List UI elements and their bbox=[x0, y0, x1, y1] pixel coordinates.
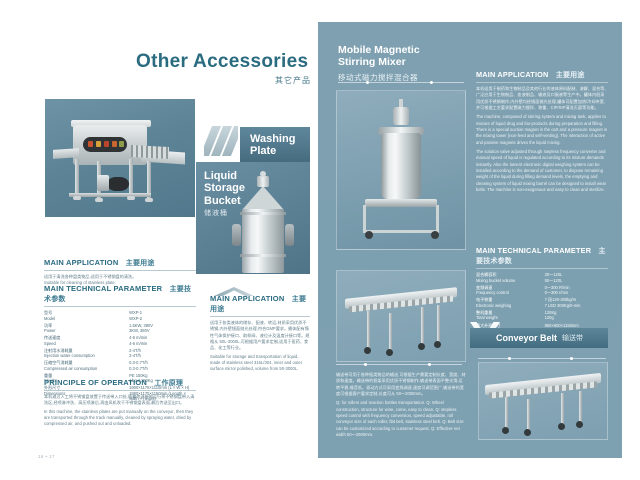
washing-plate-label: Washing Plate bbox=[240, 127, 310, 165]
mixer-main-application-body-en2: The solution valve adjusted through step… bbox=[476, 149, 608, 193]
page-title-en: Other Accessories bbox=[136, 52, 311, 72]
conveyor-photo-2 bbox=[478, 362, 608, 440]
mixer-main-application-body-en: The machine, composed of stirring system… bbox=[476, 114, 608, 146]
liquid-bucket-label-line3: Bucket bbox=[204, 195, 268, 207]
param-value: WXP-1 WXP-2 bbox=[129, 310, 196, 321]
dot-marker bbox=[428, 363, 431, 366]
param-key-en: Frequency control bbox=[476, 290, 509, 295]
mixer-main-application-heading-en: MAIN APPLICATION bbox=[476, 70, 549, 79]
param-value: 1.5KW, 380V 3KW, 380V bbox=[129, 323, 196, 334]
table-row: 变频调速 Frequency control 0～300 R/min 0～300… bbox=[476, 285, 608, 296]
left-technical-heading-en: MAIN TECHNICAL PARAMETER bbox=[44, 284, 162, 293]
param-key-en: Power bbox=[44, 328, 56, 333]
param-key-en: Speed bbox=[44, 341, 56, 346]
conveyor-photo-1 bbox=[336, 270, 466, 362]
washing-plate-photo bbox=[44, 98, 196, 218]
table-row: 压缩空气消耗量 Compressed air consumption 0.3-0… bbox=[44, 360, 196, 371]
divider bbox=[44, 390, 196, 391]
param-key-en: Electronic weighing bbox=[476, 303, 511, 308]
table-row: 传送速度 Speed 4-6 m/min 4-6 m/min bbox=[44, 335, 196, 346]
table-row: 电子称重 Electronic weighing 7 段120-300kg/m … bbox=[476, 297, 608, 308]
table-row: 型号 Model WXP-1 WXP-2 bbox=[44, 310, 196, 321]
left-main-application-heading: MAIN APPLICATION 主要用途 bbox=[44, 258, 196, 268]
dot-marker bbox=[366, 81, 369, 84]
conveyor-belt-banner: Conveyor Belt 输送带 bbox=[470, 328, 608, 348]
page-title: Other Accessories 其它产品 bbox=[136, 52, 311, 86]
chevron-up-icon bbox=[214, 274, 254, 296]
param-key-en: Model bbox=[44, 316, 55, 321]
table-row: 混合桶容积 Mixing bucket volume 30～120L 50～12… bbox=[476, 272, 608, 283]
param-value: 120Kg 120g bbox=[545, 310, 608, 321]
mixer-title: Mobile Magnetic Stirring Mixer 移动式磁力搅拌混合… bbox=[338, 44, 468, 83]
param-value: 30～120L 50～120L bbox=[545, 272, 608, 283]
divider bbox=[476, 82, 608, 83]
divider bbox=[476, 268, 608, 269]
divider bbox=[478, 358, 606, 359]
catalog-spread: Other Accessories 其它产品 bbox=[0, 0, 640, 480]
conveyor-body-cn: 输送带可用于各种瓶类物品的输送,可根据生产需要定制长度、宽度、材质和速度。输送带… bbox=[336, 372, 466, 397]
mixer-main-application-heading-cn: 主要用途 bbox=[556, 72, 585, 79]
liquid-bucket-label-line2: Storage bbox=[204, 182, 268, 194]
param-value: 0～300 R/min 0～300 r/min bbox=[545, 285, 608, 296]
param-value: 0.3-0.7T/h 0.3-0.7T/h bbox=[129, 360, 196, 371]
liquid-main-application-body-cn: 适用于各类液体的储存、配液、转运,材质采用优质不锈钢,内外壁镜面抛光处理,符合G… bbox=[210, 320, 310, 352]
conveyor-belt-label-cn: 输送带 bbox=[562, 333, 583, 343]
liquid-main-application-section: MAIN APPLICATION 主要用途 适用于各类液体的储存、配液、转运,材… bbox=[210, 294, 310, 373]
left-main-application-heading-cn: 主要用途 bbox=[126, 260, 155, 267]
divider bbox=[44, 306, 196, 307]
param-key-en: Injection water consumption bbox=[44, 353, 95, 358]
divider bbox=[210, 316, 310, 317]
principle-heading: PRINCIPLE OF OPERATION 工作原理 bbox=[44, 378, 196, 388]
table-row: 整机重量 Total weight 120Kg 120g bbox=[476, 310, 608, 321]
param-key-cn: 型号 bbox=[44, 310, 129, 316]
principle-body-en: In this machine, the stainless plates ar… bbox=[44, 409, 196, 428]
left-technical-heading: MAIN TECHNICAL PARAMETER 主要技术参数 bbox=[44, 284, 196, 304]
mixer-title-line1: Mobile Magnetic bbox=[338, 44, 468, 56]
dot-marker bbox=[364, 363, 367, 366]
conveyor-belt-label-en: Conveyor Belt bbox=[470, 333, 557, 343]
principle-heading-cn: 工作原理 bbox=[154, 380, 183, 387]
mixer-technical-heading-en: MAIN TECHNICAL PARAMETER bbox=[476, 246, 591, 255]
liquid-bucket-label-cn: 储液桶 bbox=[204, 208, 228, 218]
param-key-cn: 功率 bbox=[44, 323, 129, 329]
mixer-main-application-body-cn: 本机适用于制药和生物制品及其他行业的液体原料配制、溶解、混合等,广泛应用于生物制… bbox=[476, 86, 608, 111]
param-key-en: Compressed air consumption bbox=[44, 366, 97, 371]
mixer-technical-heading: MAIN TECHNICAL PARAMETER 主要技术参数 bbox=[476, 246, 608, 266]
table-row: 注射用水消耗量 Injection water consumption 2-4T… bbox=[44, 348, 196, 359]
divider bbox=[336, 364, 462, 365]
page-title-cn: 其它产品 bbox=[136, 75, 311, 86]
mixer-photo bbox=[336, 90, 466, 250]
washing-plate-label-line1: Washing bbox=[250, 133, 302, 145]
param-key-en: Total weight bbox=[476, 315, 498, 320]
conveyor-body-en: Q: for rollers and reaction bottles tran… bbox=[336, 400, 466, 438]
chevron-left-icon bbox=[204, 126, 238, 156]
param-key-en: Mixing bucket volume bbox=[476, 278, 515, 283]
page-number: 16 • 17 bbox=[38, 454, 55, 459]
left-main-application-section: MAIN APPLICATION 主要用途 适用于清洗各种盘类物品,适用于不锈钢… bbox=[44, 258, 196, 287]
mixer-main-application-heading: MAIN APPLICATION 主要用途 bbox=[476, 70, 608, 80]
left-page: Other Accessories 其它产品 bbox=[18, 22, 318, 458]
dot-marker bbox=[570, 357, 573, 360]
table-row: 功率 Power 1.5KW, 380V 3KW, 380V bbox=[44, 323, 196, 334]
liquid-main-application-heading: MAIN APPLICATION 主要用途 bbox=[210, 294, 310, 314]
param-value: 2-4T/h 2-4T/h bbox=[129, 348, 196, 359]
liquid-bucket-label: Liquid Storage Bucket bbox=[204, 170, 268, 207]
liquid-main-application-body-en: Suitable for storage and transportation … bbox=[210, 354, 310, 373]
mixer-main-application-section: MAIN APPLICATION 主要用途 本机适用于制药和生物制品及其他行业的… bbox=[476, 70, 608, 194]
washing-plate-label-line2: Plate bbox=[250, 145, 302, 157]
principle-heading-en: PRINCIPLE OF OPERATION bbox=[44, 378, 147, 387]
left-main-application-heading-en: MAIN APPLICATION bbox=[44, 258, 118, 267]
dot-marker bbox=[430, 81, 433, 84]
principle-body-cn: 本机通过人工将不锈钢盘放置于传送带入口处,随着传送带的运行将不锈钢盘带入清洗区,… bbox=[44, 394, 196, 407]
conveyor-description-section: 输送带可用于各种瓶类物品的输送,可根据生产需要定制长度、宽度、材质和速度。输送带… bbox=[336, 372, 466, 438]
param-value: 7 段120-300kg/m 7 LED 300Kg/0-min bbox=[545, 297, 608, 308]
divider bbox=[44, 270, 196, 271]
principle-of-operation-section: PRINCIPLE OF OPERATION 工作原理 本机通过人工将不锈钢盘放… bbox=[44, 378, 196, 428]
param-key-cn: 传送速度 bbox=[44, 335, 129, 341]
right-page: Mobile Magnetic Stirring Mixer 移动式磁力搅拌混合… bbox=[318, 22, 622, 458]
liquid-main-application-heading-en: MAIN APPLICATION bbox=[210, 294, 284, 303]
liquid-bucket-label-line1: Liquid bbox=[204, 170, 268, 182]
divider bbox=[338, 82, 464, 83]
mixer-title-line2: Stirring Mixer bbox=[338, 56, 468, 68]
dot-marker bbox=[508, 357, 511, 360]
param-value: 4-6 m/min 4-6 m/min bbox=[129, 335, 196, 346]
